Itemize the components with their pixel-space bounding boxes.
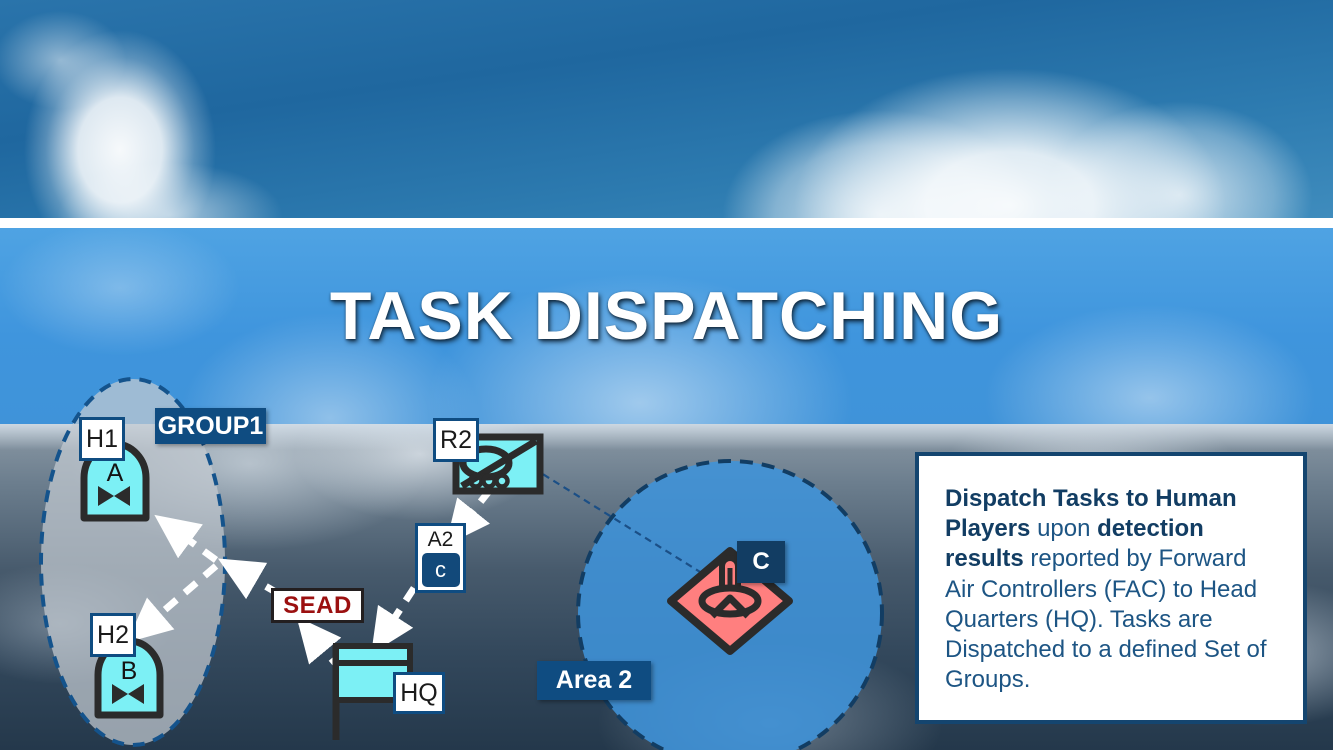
area2-zone-label[interactable]: Area 2 [537, 661, 651, 700]
task-a2-inner-letter: c [435, 559, 446, 581]
headquarters-label[interactable]: HQ [393, 672, 445, 714]
dispatch-arrow-a2-to-hq [375, 588, 414, 648]
description-panel: Dispatch Tasks to Human Players upon det… [915, 452, 1307, 724]
group1-zone-label[interactable]: GROUP1 [155, 408, 266, 444]
task-a2-card[interactable]: A2 c [415, 523, 466, 593]
task-a2-inner-square: c [422, 553, 460, 587]
unit-h2-label[interactable]: H2 [90, 613, 136, 657]
sead-task-label[interactable]: SEAD [271, 588, 364, 623]
unit-b-label: B [121, 657, 138, 685]
radar-r2-label[interactable]: R2 [433, 418, 479, 462]
description-text: Dispatch Tasks to Human Players upon det… [945, 485, 1267, 693]
unit-h1-label[interactable]: H1 [79, 417, 125, 461]
task-a2-label: A2 [428, 529, 454, 551]
slide-canvas: TASK DISPATCHING [0, 0, 1333, 750]
threat-c-label[interactable]: C [737, 541, 785, 583]
unit-a-label: A [107, 459, 124, 487]
